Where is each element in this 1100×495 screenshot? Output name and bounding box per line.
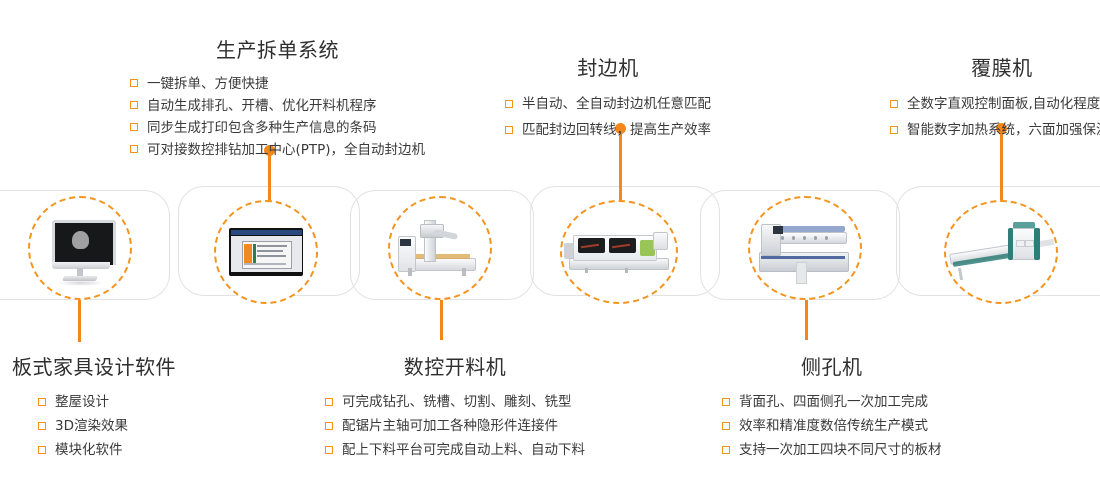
node-design-software[interactable]	[28, 196, 132, 300]
section-title: 封边机	[505, 56, 711, 81]
bullet-item: 智能数字加热系统，六面加强保温	[890, 117, 1100, 143]
bullet-item: 3D渲染效果	[38, 414, 176, 438]
checkbox-marker-icon	[890, 126, 898, 134]
section-title: 覆膜机	[890, 56, 1100, 81]
section-title: 数控开料机	[325, 355, 585, 380]
section-panel-furniture-design-software: 板式家具设计软件 整屋设计 3D渲染效果 模块化软件	[12, 355, 176, 462]
bullet-item: 一键拆单、方便快捷	[130, 73, 425, 95]
bullet-text: 3D渲染效果	[55, 418, 128, 434]
checkbox-marker-icon	[325, 446, 333, 454]
imac-monitor-icon	[30, 198, 130, 298]
bullet-item: 可完成钻孔、铣槽、切割、雕刻、铣型	[325, 390, 585, 414]
node-laminator[interactable]	[944, 200, 1058, 304]
bullet-item: 整屋设计	[38, 390, 176, 414]
bullet-list: 背面孔、四面侧孔一次加工完成 效率和精准度数倍传统生产模式 支持一次加工四块不同…	[722, 390, 942, 462]
node-side-driller[interactable]	[748, 196, 862, 300]
section-title: 生产拆单系统	[130, 38, 425, 63]
bullet-text: 同步生成打印包含多种生产信息的条码	[147, 120, 377, 136]
section-laminating-machine: 覆膜机 全数字直观控制面板,自动化程度高 智能数字加热系统，六面加强保温	[890, 56, 1100, 143]
bullet-item: 配上下料平台可完成自动上料、自动下料	[325, 438, 585, 462]
bullet-list: 可完成钻孔、铣槽、切割、雕刻、铣型 配锯片主轴可加工各种隐形件连接件 配上下料平…	[325, 390, 585, 462]
cad-software-screen-icon	[216, 202, 316, 302]
side-drilling-machine-icon	[750, 198, 860, 298]
bullet-list: 一键拆单、方便快捷 自动生成排孔、开槽、优化开料机程序 同步生成打印包含多种生产…	[130, 73, 425, 161]
bullet-item: 模块化软件	[38, 438, 176, 462]
checkbox-marker-icon	[130, 123, 138, 131]
bullet-text: 模块化软件	[55, 442, 123, 458]
checkbox-marker-icon	[130, 79, 138, 87]
checkbox-marker-icon	[722, 398, 730, 406]
checkbox-marker-icon	[722, 446, 730, 454]
bullet-item: 可对接数控排钻加工中心(PTP)，全自动封边机	[130, 139, 425, 161]
bullet-text: 匹配封边回转线，提高生产效率	[522, 122, 711, 138]
checkbox-marker-icon	[722, 422, 730, 430]
checkbox-marker-icon	[38, 398, 46, 406]
checkbox-marker-icon	[325, 422, 333, 430]
node-splitting-system[interactable]	[214, 200, 318, 304]
bullet-text: 半自动、全自动封边机任意匹配	[522, 96, 711, 112]
bullet-item: 全数字直观控制面板,自动化程度高	[890, 91, 1100, 117]
checkbox-marker-icon	[130, 101, 138, 109]
bullet-item: 同步生成打印包含多种生产信息的条码	[130, 117, 425, 139]
checkbox-marker-icon	[890, 100, 898, 108]
section-production-splitting-system: 生产拆单系统 一键拆单、方便快捷 自动生成排孔、开槽、优化开料机程序 同步生成打…	[130, 38, 425, 161]
laminating-machine-icon	[946, 202, 1056, 302]
checkbox-marker-icon	[38, 422, 46, 430]
bullet-text: 可对接数控排钻加工中心(PTP)，全自动封边机	[147, 142, 425, 158]
bullet-list: 半自动、全自动封边机任意匹配 匹配封边回转线，提高生产效率	[505, 91, 711, 143]
bullet-item: 半自动、全自动封边机任意匹配	[505, 91, 711, 117]
checkbox-marker-icon	[325, 398, 333, 406]
bullet-text: 全数字直观控制面板,自动化程度高	[907, 96, 1100, 112]
bullet-item: 匹配封边回转线，提高生产效率	[505, 117, 711, 143]
checkbox-marker-icon	[505, 100, 513, 108]
section-edge-banding-machine: 封边机 半自动、全自动封边机任意匹配 匹配封边回转线，提高生产效率	[505, 56, 711, 143]
section-title: 侧孔机	[722, 355, 942, 380]
bullet-text: 配上下料平台可完成自动上料、自动下料	[342, 442, 585, 458]
bullet-item: 背面孔、四面侧孔一次加工完成	[722, 390, 942, 414]
bullet-item: 效率和精准度数倍传统生产模式	[722, 414, 942, 438]
bullet-list: 全数字直观控制面板,自动化程度高 智能数字加热系统，六面加强保温	[890, 91, 1100, 143]
bullet-item: 支持一次加工四块不同尺寸的板材	[722, 438, 942, 462]
node-edge-bander[interactable]	[560, 200, 678, 304]
bullet-text: 支持一次加工四块不同尺寸的板材	[739, 442, 942, 458]
bullet-text: 可完成钻孔、铣槽、切割、雕刻、铣型	[342, 394, 572, 410]
section-cnc-nesting-machine: 数控开料机 可完成钻孔、铣槽、切割、雕刻、铣型 配锯片主轴可加工各种隐形件连接件…	[325, 355, 585, 462]
bullet-text: 智能数字加热系统，六面加强保温	[907, 122, 1100, 138]
bullet-text: 自动生成排孔、开槽、优化开料机程序	[147, 98, 377, 114]
section-side-hole-drilling-machine: 侧孔机 背面孔、四面侧孔一次加工完成 效率和精准度数倍传统生产模式 支持一次加工…	[722, 355, 942, 462]
bullet-item: 配锯片主轴可加工各种隐形件连接件	[325, 414, 585, 438]
checkbox-marker-icon	[130, 145, 138, 153]
checkbox-marker-icon	[38, 446, 46, 454]
checkbox-marker-icon	[505, 126, 513, 134]
cnc-router-icon	[390, 198, 490, 298]
bullet-text: 背面孔、四面侧孔一次加工完成	[739, 394, 928, 410]
bullet-text: 效率和精准度数倍传统生产模式	[739, 418, 928, 434]
bullet-text: 配锯片主轴可加工各种隐形件连接件	[342, 418, 558, 434]
edge-banding-machine-icon	[562, 202, 676, 302]
section-title: 板式家具设计软件	[12, 355, 176, 380]
bullet-text: 整屋设计	[55, 394, 109, 410]
infographic-canvas: 生产拆单系统 一键拆单、方便快捷 自动生成排孔、开槽、优化开料机程序 同步生成打…	[0, 0, 1100, 495]
node-cnc-router[interactable]	[388, 196, 492, 300]
bullet-list: 整屋设计 3D渲染效果 模块化软件	[12, 390, 176, 462]
bullet-text: 一键拆单、方便快捷	[147, 76, 269, 92]
bullet-item: 自动生成排孔、开槽、优化开料机程序	[130, 95, 425, 117]
